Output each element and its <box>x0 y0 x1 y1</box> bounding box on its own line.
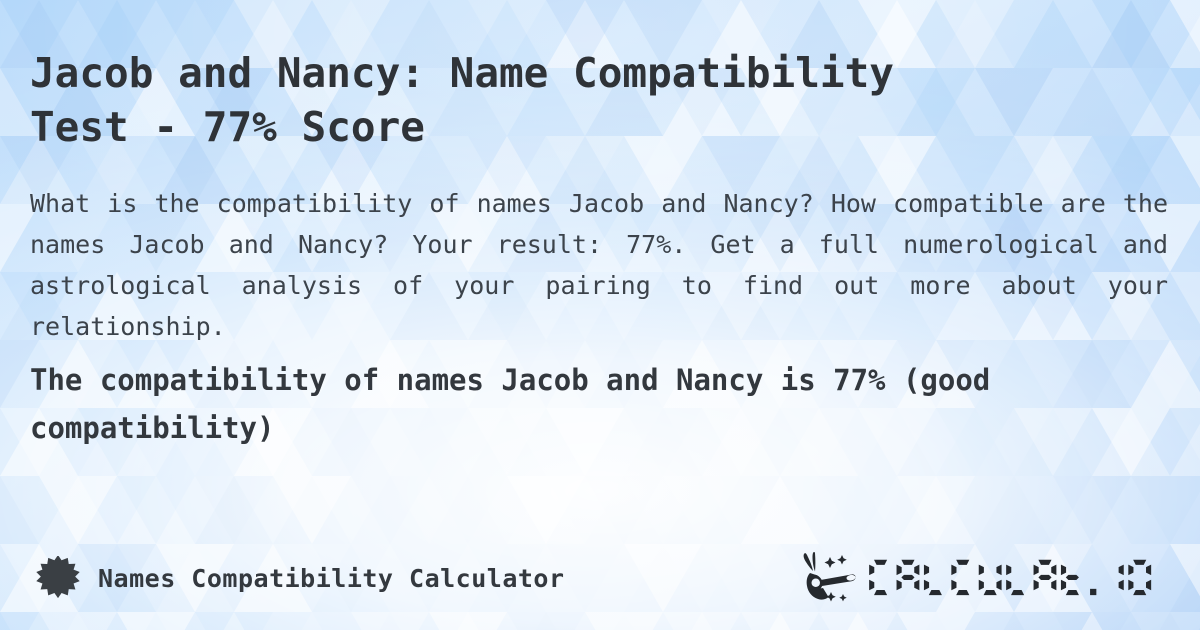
magic-wand-hand-icon <box>800 551 862 605</box>
calculatio-logo <box>800 551 1158 605</box>
compatibility-result-statement: The compatibility of names Jacob and Nan… <box>30 356 1150 452</box>
site-brand: Names Compatibility Calculator <box>36 556 565 600</box>
page-description: What is the compatibility of names Jacob… <box>30 183 1168 347</box>
og-card: Jacob and Nancy: Name Compatibility Test… <box>0 0 1200 630</box>
site-brand-label: Names Compatibility Calculator <box>98 564 565 593</box>
calculatio-logo-text <box>868 556 1158 600</box>
page-title: Jacob and Nancy: Name Compatibility Test… <box>30 46 1150 154</box>
starburst-icon <box>36 556 80 600</box>
card-footer: Names Compatibility Calculator <box>0 526 1200 630</box>
